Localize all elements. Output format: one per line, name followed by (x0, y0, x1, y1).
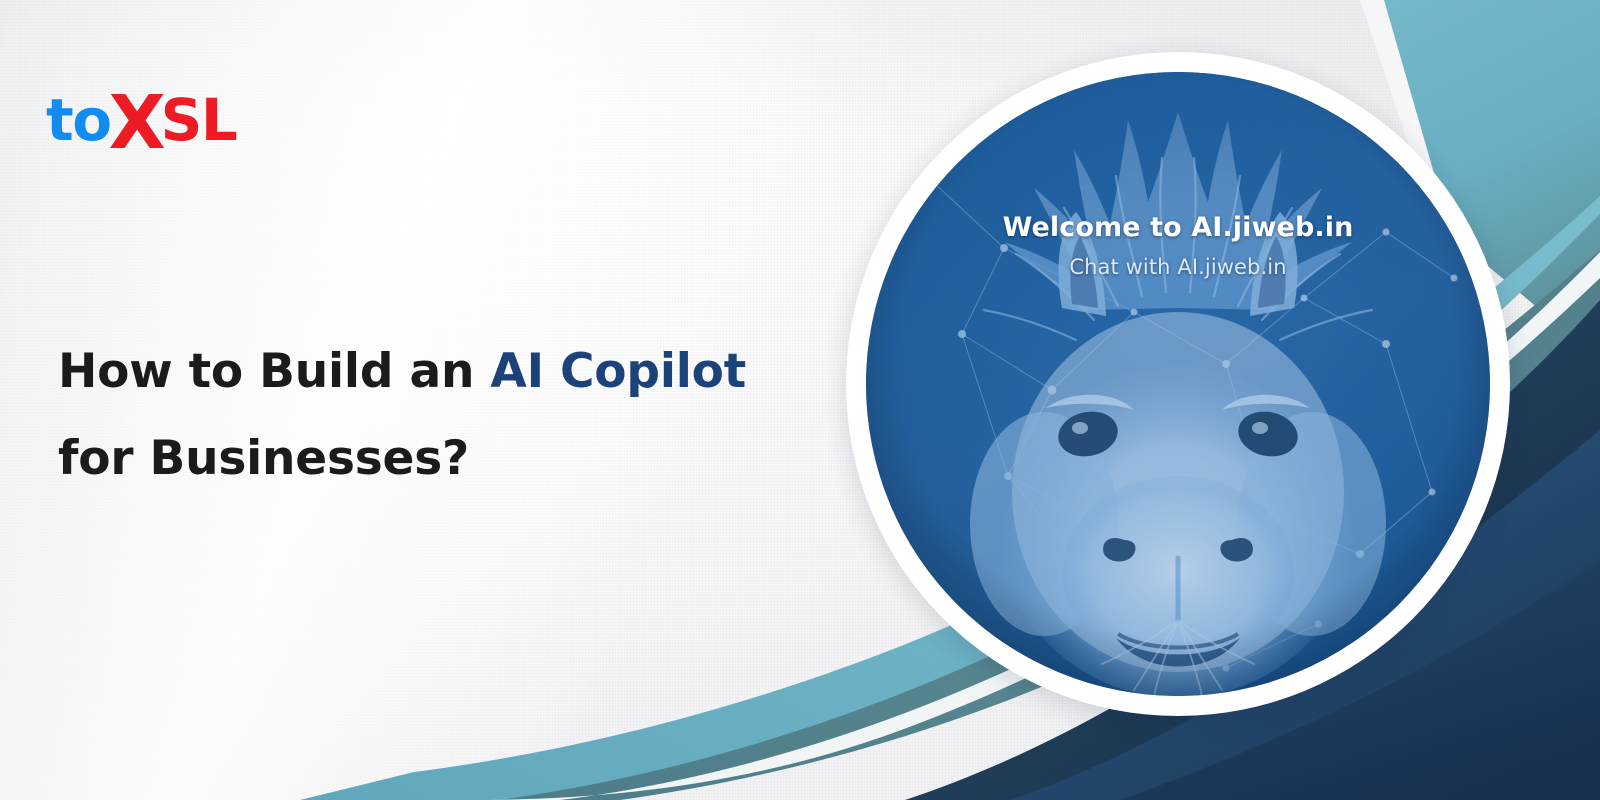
headline-accent-ai-copilot: AI Copilot (490, 344, 746, 399)
hero-circle-ring: Welcome to AI.jiweb.in Chat with AI.jiwe… (846, 52, 1510, 716)
logo-text-sl: SL (161, 86, 237, 154)
blog-banner: toXSL How to Build an AI Copilot for Bus… (0, 0, 1600, 800)
headline-line1-plain: How to Build an (58, 344, 490, 399)
page-title: How to Build an AI Copilot for Businesse… (58, 329, 818, 503)
llama-portrait-illustration (866, 72, 1490, 696)
headline-line2: for Businesses? (58, 431, 469, 486)
hero-circle-image: Welcome to AI.jiweb.in Chat with AI.jiwe… (866, 72, 1490, 696)
logo-text-x: X (109, 80, 163, 166)
logo-text-to: to (46, 86, 111, 154)
toxsl-logo[interactable]: toXSL (46, 78, 240, 152)
